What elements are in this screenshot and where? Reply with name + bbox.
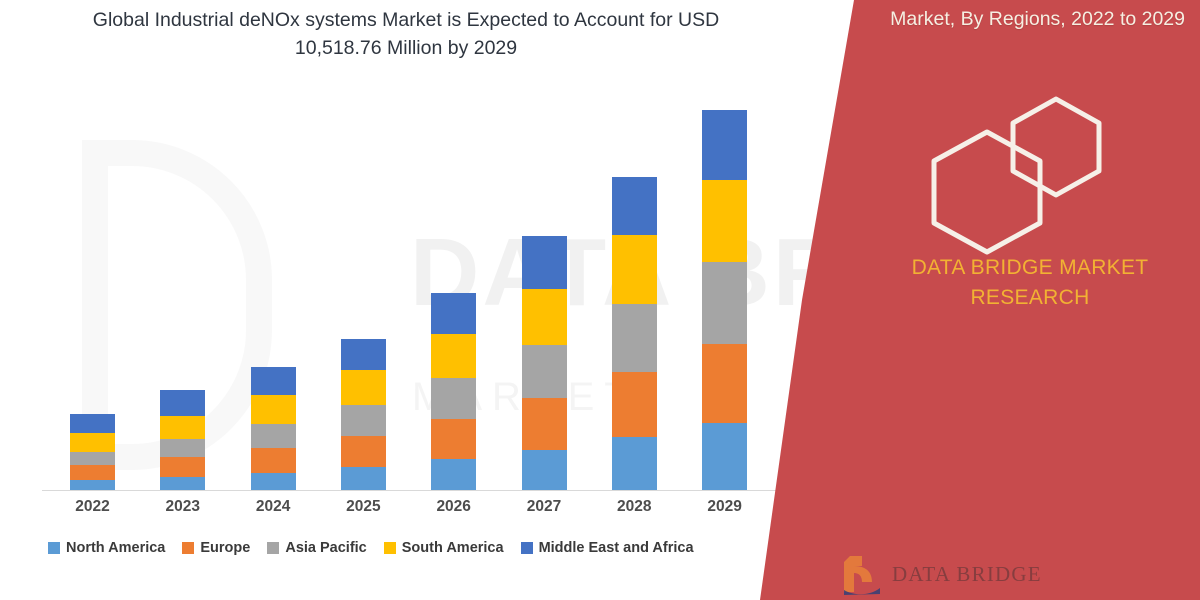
bar-segment-asia-pacific[interactable] — [160, 439, 205, 457]
bar-2022[interactable] — [70, 414, 115, 490]
bar-2024[interactable] — [251, 367, 296, 490]
bar-segment-europe[interactable] — [70, 465, 115, 480]
bar-segment-south-america[interactable] — [522, 289, 567, 345]
legend-item-south-america[interactable]: South America — [384, 540, 504, 556]
bar-segment-south-america[interactable] — [612, 235, 657, 304]
bar-segment-europe[interactable] — [522, 398, 567, 450]
bar-segment-middle-east-and-africa[interactable] — [251, 367, 296, 395]
bar-2026[interactable] — [431, 293, 476, 490]
bar-segment-north-america[interactable] — [612, 437, 657, 490]
bar-segment-europe[interactable] — [612, 372, 657, 437]
bar-segment-middle-east-and-africa[interactable] — [702, 110, 747, 180]
legend-label: Europe — [200, 540, 250, 556]
x-label-2029: 2029 — [695, 498, 755, 516]
legend-item-europe[interactable]: Europe — [182, 540, 250, 556]
bar-segment-middle-east-and-africa[interactable] — [160, 390, 205, 416]
stacked-bar-plot: 20222023202420252026202720282029 — [0, 0, 830, 600]
bar-2028[interactable] — [612, 177, 657, 490]
data-bridge-logo: DATA BRIDGE — [838, 552, 1042, 596]
x-label-2027: 2027 — [514, 498, 574, 516]
bar-segment-asia-pacific[interactable] — [251, 424, 296, 448]
legend-label: Asia Pacific — [285, 540, 366, 556]
x-label-2028: 2028 — [604, 498, 664, 516]
bar-segment-asia-pacific[interactable] — [431, 378, 476, 418]
bar-segment-middle-east-and-africa[interactable] — [612, 177, 657, 235]
legend-swatch-icon — [521, 542, 533, 554]
bar-segment-europe[interactable] — [160, 457, 205, 476]
panel-title: Market, By Regions, 2022 to 2029 — [855, 6, 1185, 33]
bar-segment-europe[interactable] — [431, 419, 476, 459]
x-label-2025: 2025 — [333, 498, 393, 516]
brand-name: DATA BRIDGE MARKET RESEARCH — [880, 253, 1180, 313]
bar-2025[interactable] — [341, 339, 386, 490]
bar-segment-asia-pacific[interactable] — [522, 345, 567, 398]
legend-label: North America — [66, 540, 165, 556]
x-label-2026: 2026 — [424, 498, 484, 516]
x-label-2024: 2024 — [243, 498, 303, 516]
x-label-2022: 2022 — [63, 498, 123, 516]
bar-segment-south-america[interactable] — [70, 433, 115, 451]
bar-segment-south-america[interactable] — [341, 370, 386, 406]
bar-segment-europe[interactable] — [251, 448, 296, 473]
bar-segment-middle-east-and-africa[interactable] — [522, 236, 567, 289]
bar-segment-europe[interactable] — [341, 436, 386, 467]
x-label-2023: 2023 — [153, 498, 213, 516]
chart-area: DATA BRID MARKET Global Industrial deNOx… — [0, 0, 830, 600]
bar-2023[interactable] — [160, 390, 205, 490]
legend-label: Middle East and Africa — [539, 540, 694, 556]
bar-segment-north-america[interactable] — [431, 459, 476, 490]
bar-2027[interactable] — [522, 236, 567, 490]
bar-segment-north-america[interactable] — [160, 477, 205, 490]
bar-segment-middle-east-and-africa[interactable] — [70, 414, 115, 433]
legend-label: South America — [402, 540, 504, 556]
bar-segment-north-america[interactable] — [522, 450, 567, 490]
bar-segment-asia-pacific[interactable] — [341, 405, 386, 436]
bar-segment-north-america[interactable] — [341, 467, 386, 490]
legend-item-asia-pacific[interactable]: Asia Pacific — [267, 540, 366, 556]
legend-item-middle-east-and-africa[interactable]: Middle East and Africa — [521, 540, 694, 556]
chart-screenshot: DATA BRID MARKET Global Industrial deNOx… — [0, 0, 1200, 600]
legend-swatch-icon — [384, 542, 396, 554]
bar-segment-south-america[interactable] — [160, 416, 205, 439]
bar-2029[interactable] — [702, 110, 747, 490]
legend-swatch-icon — [182, 542, 194, 554]
bar-segment-europe[interactable] — [702, 344, 747, 423]
x-axis-labels: 20222023202420252026202720282029 — [0, 498, 830, 524]
bridge-mark-icon — [838, 552, 884, 596]
bar-segment-asia-pacific[interactable] — [70, 452, 115, 465]
bar-segment-north-america[interactable] — [70, 480, 115, 490]
bar-segment-middle-east-and-africa[interactable] — [431, 293, 476, 334]
bar-segment-asia-pacific[interactable] — [702, 262, 747, 344]
bar-segment-north-america[interactable] — [702, 423, 747, 490]
legend-item-north-america[interactable]: North America — [48, 540, 165, 556]
bar-segment-south-america[interactable] — [251, 395, 296, 424]
legend-swatch-icon — [48, 542, 60, 554]
bar-segment-north-america[interactable] — [251, 473, 296, 490]
bar-segment-asia-pacific[interactable] — [612, 304, 657, 371]
bar-segment-south-america[interactable] — [431, 334, 476, 378]
legend-swatch-icon — [267, 542, 279, 554]
bar-segment-south-america[interactable] — [702, 180, 747, 262]
logo-text: DATA BRIDGE — [892, 562, 1042, 587]
hexagon-2022 — [1008, 95, 1104, 199]
chart-legend: North AmericaEuropeAsia PacificSouth Ame… — [48, 540, 788, 556]
bar-segment-middle-east-and-africa[interactable] — [341, 339, 386, 370]
axis-baseline — [42, 490, 802, 491]
